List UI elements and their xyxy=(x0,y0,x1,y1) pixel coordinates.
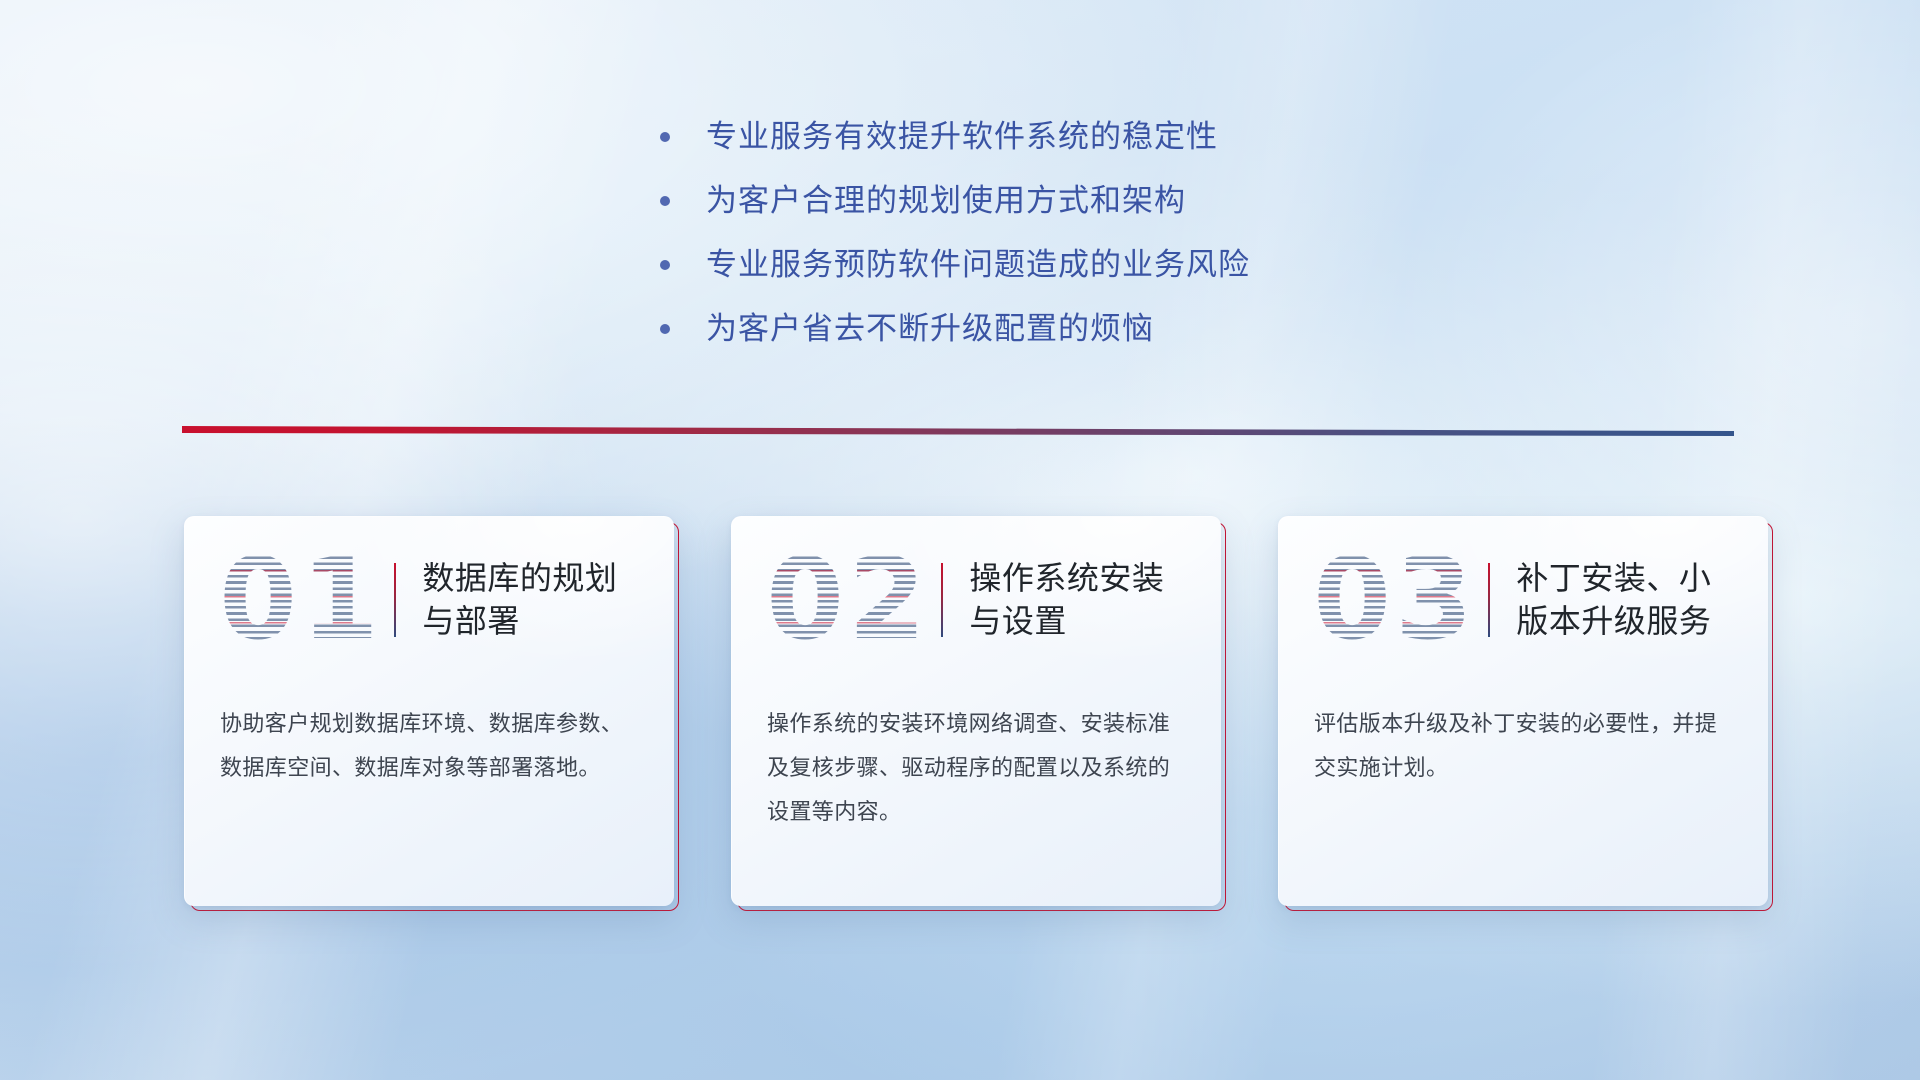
bullet-dot-icon xyxy=(660,196,670,206)
list-item: 为客户合理的规划使用方式和架构 xyxy=(660,169,1560,233)
card-number: 02 xyxy=(766,544,930,656)
card-number: 01 xyxy=(219,544,383,656)
card-number: 03 xyxy=(1313,544,1477,656)
bullet-text: 为客户省去不断升级配置的烦恼 xyxy=(706,310,1154,349)
card-title-rule xyxy=(941,563,943,637)
service-card-01[interactable]: 01 01 数据库的规划 与部署 协助客户规划数据库环境、数据库参数、数据库空间… xyxy=(184,516,674,906)
bullet-dot-icon xyxy=(660,132,670,142)
card-title: 数据库的规划 与部署 xyxy=(422,557,617,643)
card-description: 协助客户规划数据库环境、数据库参数、数据库空间、数据库对象等部署落地。 xyxy=(220,702,644,790)
card-header: 02 02 操作系统安装 与设置 xyxy=(731,516,1221,684)
card-title: 操作系统安装 与设置 xyxy=(969,557,1164,643)
card-header: 01 01 数据库的规划 与部署 xyxy=(184,516,674,684)
slide-canvas: 专业服务有效提升软件系统的稳定性 为客户合理的规划使用方式和架构 专业服务预防软… xyxy=(0,0,1920,1080)
service-card-02[interactable]: 02 02 操作系统安装 与设置 操作系统的安装环境网络调查、安装标准及复核步骤… xyxy=(731,516,1221,906)
bullet-text: 专业服务有效提升软件系统的稳定性 xyxy=(706,118,1218,157)
card-header: 03 03 补丁安装、小 版本升级服务 xyxy=(1278,516,1768,684)
card-title-rule xyxy=(394,563,396,637)
list-item: 专业服务有效提升软件系统的稳定性 xyxy=(660,105,1560,169)
bullet-text: 为客户合理的规划使用方式和架构 xyxy=(706,182,1186,221)
card-title: 补丁安装、小 版本升级服务 xyxy=(1516,557,1711,643)
divider-shape-icon xyxy=(182,424,1734,438)
bullet-text: 专业服务预防软件问题造成的业务风险 xyxy=(706,246,1250,285)
bullet-dot-icon xyxy=(660,260,670,270)
service-card-03[interactable]: 03 03 补丁安装、小 版本升级服务 评估版本升级及补丁安装的必要性，并提交实… xyxy=(1278,516,1768,906)
benefits-bullet-list: 专业服务有效提升软件系统的稳定性 为客户合理的规划使用方式和架构 专业服务预防软… xyxy=(660,105,1560,361)
card-number-badge: 02 02 xyxy=(759,544,937,656)
card-number-badge: 03 03 xyxy=(1306,544,1484,656)
card-title-rule xyxy=(1488,563,1490,637)
card-number-badge: 01 01 xyxy=(212,544,390,656)
list-item: 专业服务预防软件问题造成的业务风险 xyxy=(660,233,1560,297)
bullet-dot-icon xyxy=(660,324,670,334)
service-card-group: 01 01 数据库的规划 与部署 协助客户规划数据库环境、数据库参数、数据库空间… xyxy=(184,516,1768,906)
card-description: 操作系统的安装环境网络调查、安装标准及复核步骤、驱动程序的配置以及系统的设置等内… xyxy=(767,702,1191,834)
section-divider xyxy=(182,424,1734,438)
list-item: 为客户省去不断升级配置的烦恼 xyxy=(660,297,1560,361)
card-description: 评估版本升级及补丁安装的必要性，并提交实施计划。 xyxy=(1314,702,1738,790)
